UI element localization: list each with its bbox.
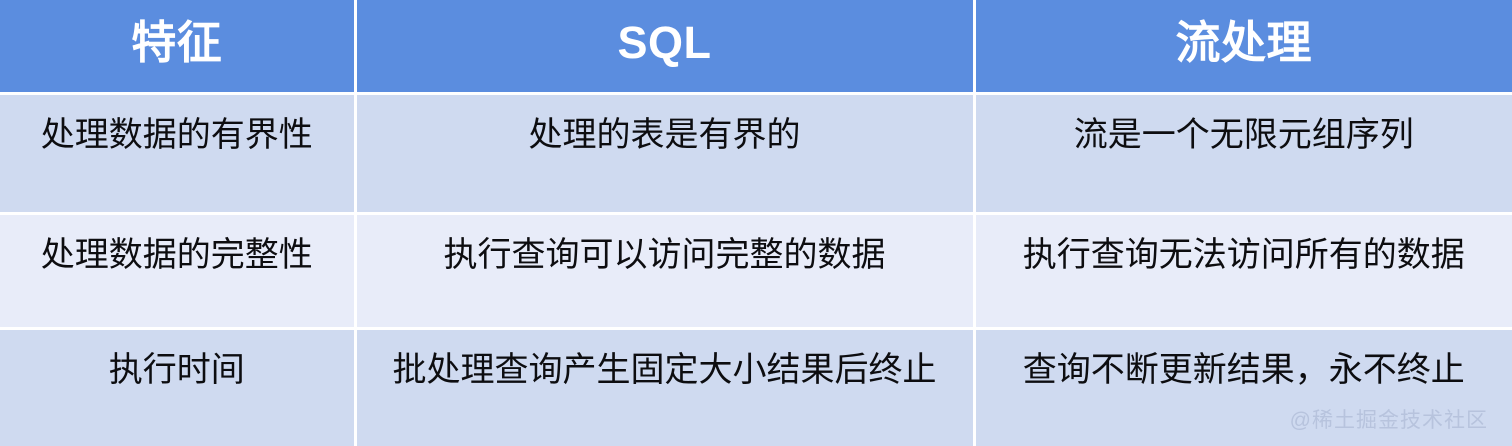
table-header-row: 特征 SQL 流处理	[0, 0, 1512, 93]
cell-sql: 处理的表是有界的	[355, 93, 974, 213]
cell-stream: 查询不断更新结果，永不终止	[974, 328, 1512, 446]
column-header-stream: 流处理	[974, 0, 1512, 93]
cell-feature: 处理数据的完整性	[0, 213, 355, 328]
column-header-feature: 特征	[0, 0, 355, 93]
cell-sql: 执行查询可以访问完整的数据	[355, 213, 974, 328]
cell-stream: 流是一个无限元组序列	[974, 93, 1512, 213]
cell-stream: 执行查询无法访问所有的数据	[974, 213, 1512, 328]
table-row: 执行时间 批处理查询产生固定大小结果后终止 查询不断更新结果，永不终止	[0, 328, 1512, 446]
cell-feature: 处理数据的有界性	[0, 93, 355, 213]
cell-feature: 执行时间	[0, 328, 355, 446]
table-header: 特征 SQL 流处理	[0, 0, 1512, 93]
table-body: 处理数据的有界性 处理的表是有界的 流是一个无限元组序列 处理数据的完整性 执行…	[0, 93, 1512, 446]
table-row: 处理数据的完整性 执行查询可以访问完整的数据 执行查询无法访问所有的数据	[0, 213, 1512, 328]
column-header-sql: SQL	[355, 0, 974, 93]
sql-vs-stream-comparison-table: 特征 SQL 流处理 处理数据的有界性 处理的表是有界的 流是一个无限元组序列 …	[0, 0, 1512, 446]
comparison-table-screen: 特征 SQL 流处理 处理数据的有界性 处理的表是有界的 流是一个无限元组序列 …	[0, 0, 1512, 446]
cell-sql: 批处理查询产生固定大小结果后终止	[355, 328, 974, 446]
table-row: 处理数据的有界性 处理的表是有界的 流是一个无限元组序列	[0, 93, 1512, 213]
